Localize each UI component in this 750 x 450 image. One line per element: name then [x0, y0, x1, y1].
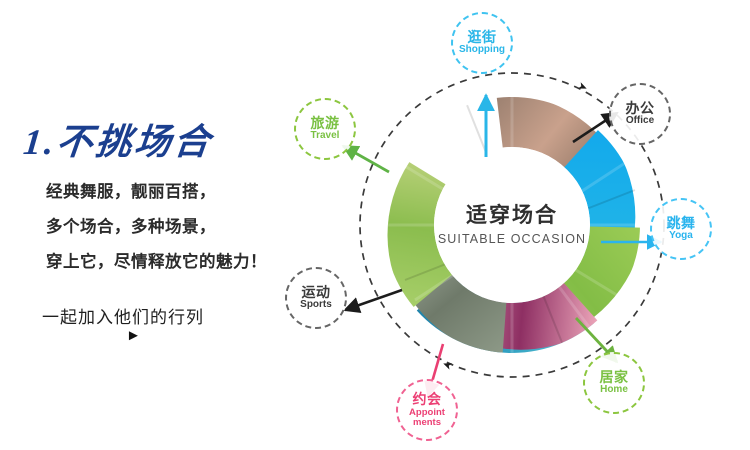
arrow-travel	[343, 146, 389, 172]
promo-banner: 1.不挑场合 经典舞服，靓丽百搭， 多个场合，多种场景， 穿上它，尽情释放它的魅…	[0, 0, 750, 450]
node-label-en: Office	[626, 116, 654, 127]
node-label-cn: 运动	[302, 285, 331, 300]
node-yoga[interactable]: 跳舞 Yoga	[650, 198, 712, 260]
node-label-en: Travel	[311, 131, 340, 142]
play-triangle-icon: ►	[126, 328, 141, 343]
node-appointments[interactable]: 约会 Appoint ments	[396, 379, 458, 441]
node-label-en: Shopping	[459, 45, 505, 56]
node-label-cn: 约会	[413, 392, 442, 407]
node-label-cn: 逛街	[468, 30, 497, 45]
node-label-en: Sports	[300, 300, 332, 311]
node-label-cn: 居家	[600, 370, 629, 385]
node-travel[interactable]: 旅游 Travel	[294, 98, 356, 160]
node-label-cn: 旅游	[311, 116, 340, 131]
node-label-en: Yoga	[669, 231, 693, 242]
node-label-en-line-2: ments	[413, 418, 441, 428]
node-label-en: Home	[600, 385, 628, 396]
node-label-cn: 办公	[626, 101, 655, 116]
cta-text: 一起加入他们的行列	[42, 303, 204, 328]
arrow-sports	[345, 290, 402, 310]
node-home[interactable]: 居家 Home	[583, 352, 645, 414]
body-line: 穿上它，尽情释放它的魅力！	[46, 248, 267, 272]
body-line: 多个场合，多种场景，	[46, 213, 216, 237]
node-label-cn: 跳舞	[667, 216, 696, 231]
node-sports[interactable]: 运动 Sports	[285, 267, 347, 329]
page-title: 1.不挑场合	[21, 113, 215, 165]
left-text-panel: 1.不挑场合 经典舞服，靓丽百搭， 多个场合，多种场景， 穿上它，尽情释放它的魅…	[0, 0, 300, 450]
body-line: 经典舞服，靓丽百搭，	[46, 178, 216, 202]
suitable-occasion-diagram: 适穿场合 SUITABLE OCCASION 逛街 Shopping 办公 Of…	[265, 0, 750, 450]
node-office[interactable]: 办公 Office	[609, 83, 671, 145]
node-shopping[interactable]: 逛街 Shopping	[451, 12, 513, 74]
hub-disc	[434, 147, 590, 303]
